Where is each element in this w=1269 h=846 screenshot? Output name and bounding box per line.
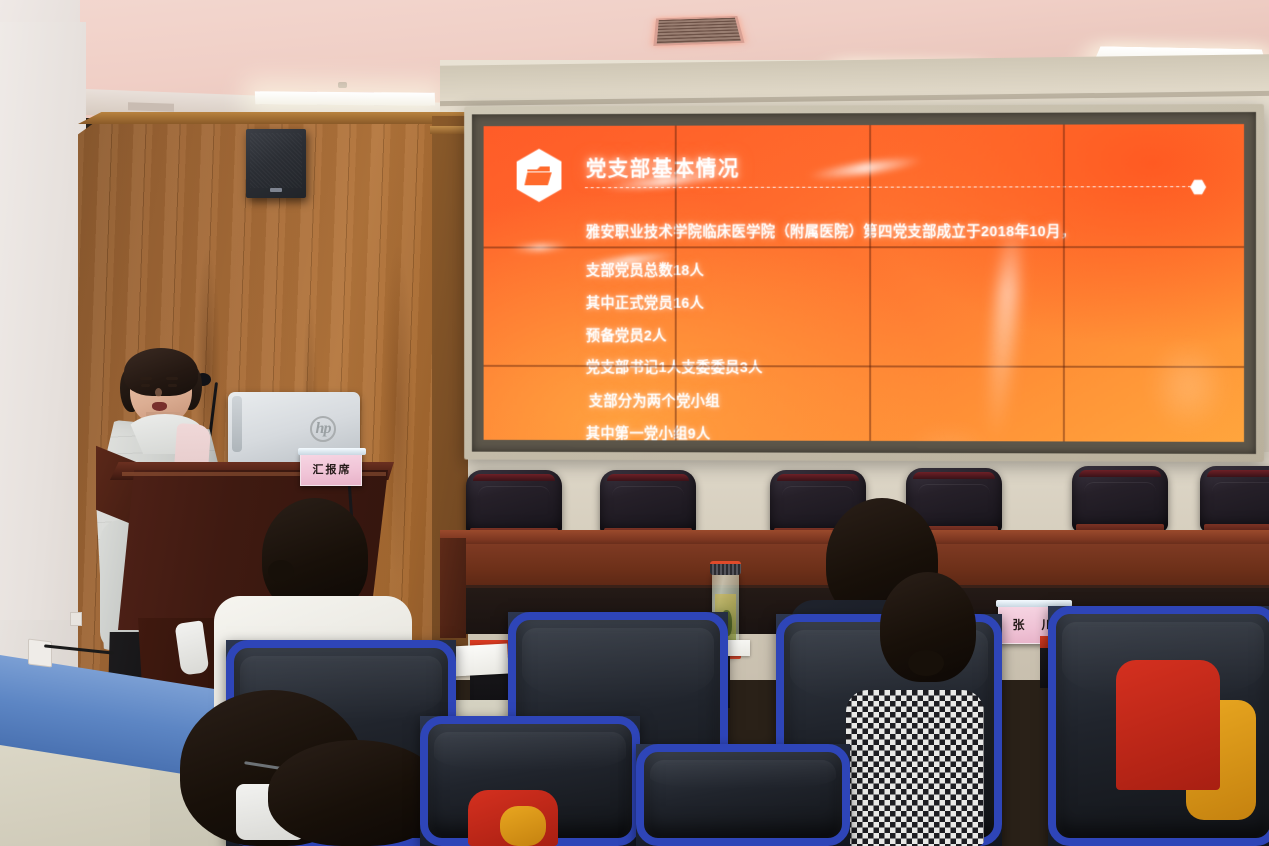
presenter-nose — [155, 388, 162, 397]
slide-body-line: 雅安职业技术学院临床医学院（附属医院）第四党支部成立于2018年10月， — [586, 220, 1076, 241]
slide-content: 党支部基本情况 雅安职业技术学院临床医学院（附属医院）第四党支部成立于2018年… — [484, 124, 1244, 442]
hp-logo-icon: hp — [310, 416, 336, 442]
slide-divider-line — [585, 186, 1196, 188]
audience-chair[interactable] — [636, 744, 850, 846]
slide-body-line: 其中正式党员16人 — [586, 292, 705, 313]
podium-nameplate-text: 汇报席 — [311, 461, 352, 477]
presentation-screen[interactable]: 党支部基本情况 雅安职业技术学院临床医学院（附属医院）第四党支部成立于2018年… — [484, 124, 1244, 442]
nameplate-stand — [298, 448, 366, 455]
presenter-mouth — [152, 402, 167, 411]
thermos-lid — [710, 561, 741, 575]
audience-hair-tie — [268, 560, 294, 582]
slide-body-line: 支部分为两个党小组 — [589, 390, 720, 411]
wood-panel-crown-trim — [78, 112, 468, 124]
executive-chair — [1200, 466, 1269, 532]
slide-body-line: 支部党员总数18人 — [586, 259, 705, 280]
divider-endpoint-hexagon-icon — [1190, 179, 1206, 195]
ceiling-vent-slot-icon — [128, 102, 174, 112]
video-wall-seam — [1063, 125, 1064, 442]
wall-speaker-icon — [246, 129, 306, 198]
monitor-side-bezel — [232, 396, 242, 452]
stage-desk-left-return — [440, 538, 466, 638]
slide-title: 党支部基本情况 — [586, 152, 740, 182]
video-wall-seam — [869, 125, 870, 441]
presenter-eyebrow — [166, 377, 178, 380]
seated-audience-member — [846, 690, 984, 846]
seated-audience-member — [268, 740, 444, 846]
seated-audience-member — [1116, 660, 1220, 790]
audience-hair-tie — [908, 650, 944, 676]
presenter-eye — [168, 384, 177, 387]
executive-chair — [466, 470, 562, 536]
ceiling-ac-vent-icon — [653, 16, 744, 46]
wall-outlet-icon — [70, 612, 82, 626]
video-wall-seam — [675, 126, 676, 441]
seated-audience-member — [500, 806, 546, 846]
slide-body-line: 预备党员2人 — [586, 325, 667, 346]
presenter-eye — [141, 384, 150, 387]
executive-chair — [1072, 466, 1168, 532]
slide-body-line: 其中第一党小组9人 — [586, 422, 711, 442]
executive-chair — [600, 470, 696, 536]
podium-nameplate: 汇报席 — [300, 452, 362, 486]
wall-outlet-icon — [28, 639, 52, 668]
photo-scene: 党支部基本情况 雅安职业技术学院临床医学院（附属医院）第四党支部成立于2018年… — [0, 0, 1269, 846]
folder-hexagon-icon — [515, 148, 564, 203]
document-paper — [451, 644, 508, 677]
sprinkler-head-icon — [338, 82, 347, 88]
ceiling-light-panel-icon — [255, 91, 435, 106]
presenter-eyebrow — [140, 377, 152, 380]
video-wall-inner-bezel: 党支部基本情况 雅安职业技术学院临床医学院（附属医院）第四党支部成立于2018年… — [472, 112, 1256, 454]
speaker-brand-mark — [270, 188, 282, 192]
video-wall-frame: 党支部基本情况 雅安职业技术学院临床医学院（附属医院）第四党支部成立于2018年… — [464, 104, 1264, 462]
